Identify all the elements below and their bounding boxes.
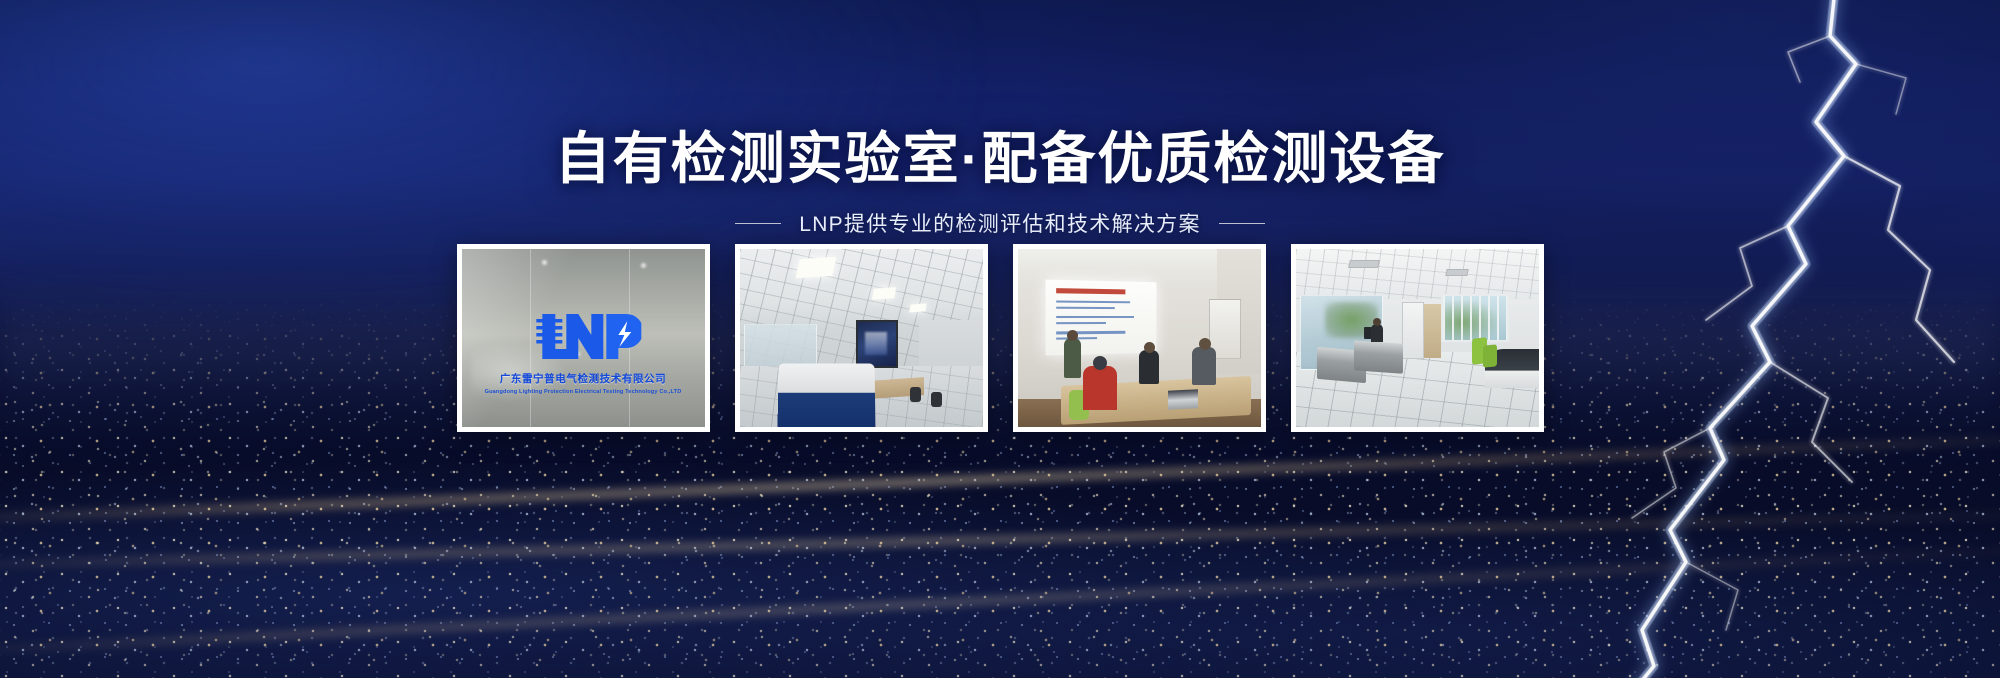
ceiling-light-panel-2 xyxy=(872,287,896,300)
slide-text-line-3 xyxy=(1056,316,1134,318)
attendee-person-2 xyxy=(1192,347,1216,385)
photo-office-area xyxy=(1296,249,1539,427)
ceiling-light-panel-3 xyxy=(909,304,927,313)
office-window xyxy=(1441,294,1509,342)
gallery-card-training-meeting-room[interactable] xyxy=(1013,244,1266,432)
slide-title-bar xyxy=(1056,288,1125,294)
hero-banner: 自有检测实验室·配备优质检测设备 LNP提供专业的检测评估和技术解决方案 xyxy=(0,0,2000,678)
ceiling-light-panel-1 xyxy=(795,257,836,278)
gallery-card-testing-laboratory[interactable] xyxy=(735,244,988,432)
company-name-english: Guangdong Lighting Protection Electrical… xyxy=(485,389,682,395)
subtitle-row: LNP提供专业的检测评估和技术解决方案 xyxy=(735,208,1265,238)
slide-text-line-1 xyxy=(1056,300,1130,303)
gallery-card-company-lobby-sign[interactable]: 广东雷宁普电气检测技术有限公司 Guangdong Lighting Prote… xyxy=(457,244,710,432)
rule-right-icon xyxy=(1219,223,1265,224)
meeting-laptop xyxy=(1168,389,1198,410)
office-wood-shelf xyxy=(1424,304,1441,357)
page-subtitle: LNP提供专业的检测评估和技术解决方案 xyxy=(799,208,1201,238)
photo-testing-laboratory xyxy=(740,249,983,427)
lab-chair-1 xyxy=(910,387,921,402)
office-worker-person xyxy=(1371,324,1383,342)
ceiling-light-spot-2 xyxy=(641,263,646,268)
office-ceiling xyxy=(1296,249,1539,299)
ceiling-light-spot-1 xyxy=(542,260,547,265)
slide-text-line-4 xyxy=(1056,322,1106,324)
lab-test-console xyxy=(778,363,876,427)
projection-screen xyxy=(1045,280,1156,356)
attendee-person-1 xyxy=(1139,350,1159,384)
office-cabinet-tall xyxy=(1402,302,1424,359)
company-name-chinese: 广东雷宁普电气检测技术有限公司 xyxy=(500,371,667,386)
wall-mounted-monitor xyxy=(856,320,898,368)
office-air-vent-1 xyxy=(1348,260,1380,268)
lab-chair-2 xyxy=(931,392,942,407)
presenter-person xyxy=(1064,338,1081,378)
office-desk-2 xyxy=(1354,340,1403,374)
attendee-person-3 xyxy=(1083,366,1117,410)
photo-company-lobby-sign: 广东雷宁普电气检测技术有限公司 Guangdong Lighting Prote… xyxy=(462,249,705,427)
office-air-vent-2 xyxy=(1445,269,1468,276)
office-green-chair-2 xyxy=(1483,344,1497,367)
rule-left-icon xyxy=(735,223,781,224)
page-title: 自有检测实验室·配备优质检测设备 xyxy=(555,126,1446,192)
lnp-logo-icon xyxy=(533,306,641,364)
photo-training-meeting-room xyxy=(1018,249,1261,427)
slide-text-line-2 xyxy=(1056,306,1115,309)
gallery-card-office-area[interactable] xyxy=(1291,244,1544,432)
photo-gallery: 广东雷宁普电气检测技术有限公司 Guangdong Lighting Prote… xyxy=(0,244,2000,432)
